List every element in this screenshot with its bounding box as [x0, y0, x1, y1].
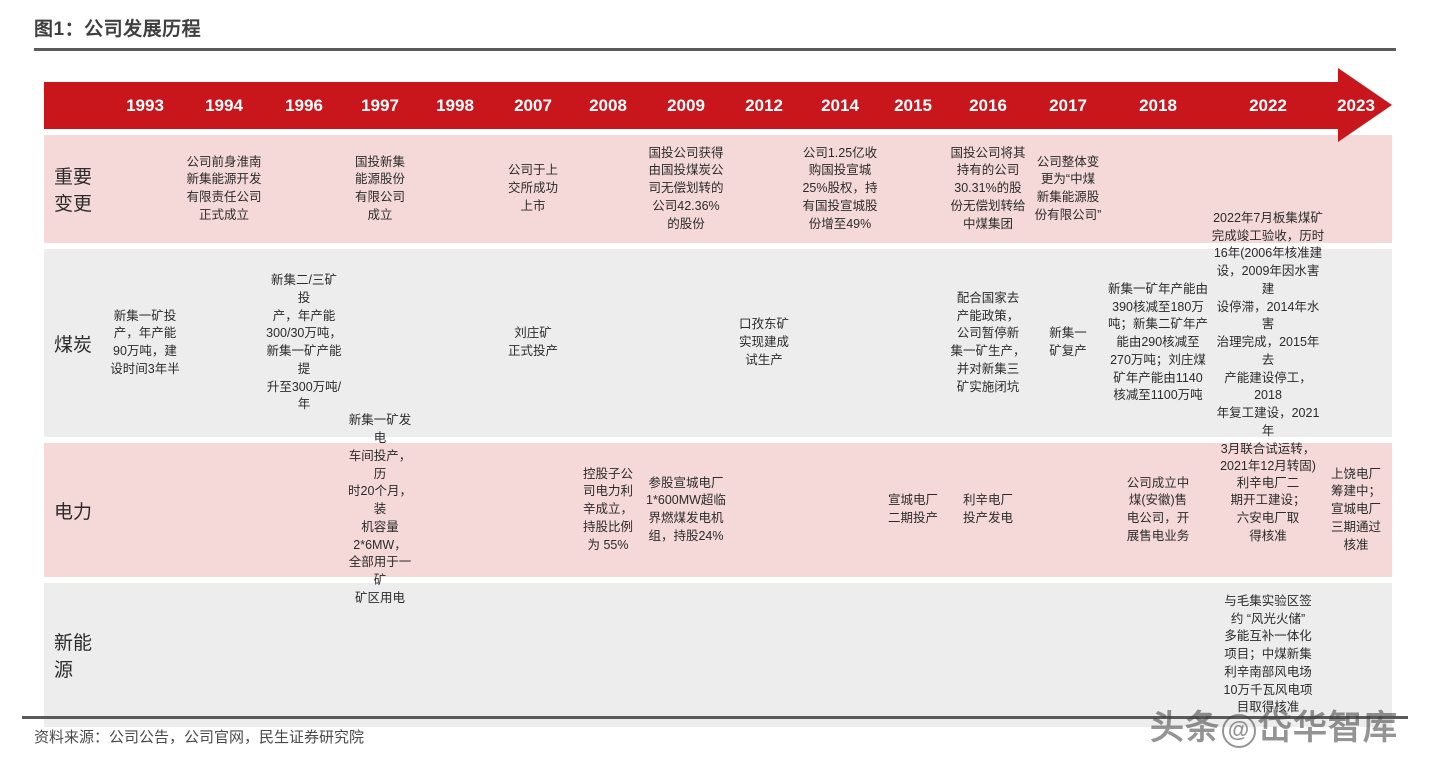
- row-label-important-changes: 重要变更: [44, 135, 106, 243]
- cell-煤炭-1994: [184, 249, 264, 437]
- year-label-1998: 1998: [416, 96, 494, 116]
- cell-新能源-2023: [1326, 583, 1386, 727]
- year-label-2022: 2022: [1210, 96, 1326, 116]
- cell-电力-2017: [1030, 443, 1106, 577]
- cell-新能源-2007: [494, 583, 572, 727]
- cell-电力-2009: 参股宣城电厂 1*600MW超临 界燃煤发电机 组，持股24%: [644, 443, 728, 577]
- timeline-arrow-header: 1993199419961997199820072008200920122014…: [44, 82, 1392, 129]
- source-note: 资料来源：公司公告，公司官网，民生证券研究院: [34, 726, 364, 747]
- cell-新能源-2008: [572, 583, 644, 727]
- cell-重要变更-2016: 国投公司将其 持有的公司 30.31%的股 份无偿划转给 中煤集团: [946, 135, 1030, 243]
- cell-煤炭-2008: [572, 249, 644, 437]
- year-label-1996: 1996: [264, 96, 344, 116]
- cell-新能源-1994: [184, 583, 264, 727]
- year-label-2007: 2007: [494, 96, 572, 116]
- title-divider: [34, 48, 1396, 51]
- year-label-2017: 2017: [1030, 96, 1106, 116]
- row-label-power: 电力: [44, 443, 106, 577]
- cell-新能源-1998: [416, 583, 494, 727]
- year-label-2023: 2023: [1326, 96, 1386, 116]
- cell-新能源-2014: [800, 583, 880, 727]
- cell-煤炭-2009: [644, 249, 728, 437]
- cell-重要变更-2012: [728, 135, 800, 243]
- row-cells-important-changes: 公司前身淮南 新集能源开发 有限责任公司 正式成立国投新集 能源股份 有限公司 …: [106, 135, 1392, 243]
- cell-电力-2016: 利辛电厂 投产发电: [946, 443, 1030, 577]
- cell-重要变更-2023: [1326, 135, 1386, 243]
- cell-重要变更-1998: [416, 135, 494, 243]
- cell-重要变更-2017: 公司整体变 更为“中煤 新集能源股 份有限公司”: [1030, 135, 1106, 243]
- table-row-coal: 煤炭 新集一矿投 产，年产能 90万吨，建 设时间3年半新集二/三矿投 产，年产…: [44, 249, 1392, 437]
- cell-重要变更-2018: [1106, 135, 1210, 243]
- year-label-2012: 2012: [728, 96, 800, 116]
- cell-新能源-2022: 与毛集实验区签 约 “风光火储” 多能互补一体化 项目；中煤新集 利辛南部风电场…: [1210, 583, 1326, 727]
- cell-电力-1996: [264, 443, 344, 577]
- cell-煤炭-2012: 口孜东矿 实现建成 试生产: [728, 249, 800, 437]
- cell-煤炭-2022: 2022年7月板集煤矿 完成竣工验收，历时 16年(2006年核准建 设，200…: [1210, 249, 1326, 437]
- row-cells-new-energy: 与毛集实验区签 约 “风光火储” 多能互补一体化 项目；中煤新集 利辛南部风电场…: [106, 583, 1392, 727]
- cell-重要变更-1993: [106, 135, 184, 243]
- cell-重要变更-2014: 公司1.25亿收 购国投宣城 25%股权，持 有国投宣城股 份增至49%: [800, 135, 880, 243]
- cell-新能源-2016: [946, 583, 1030, 727]
- cell-煤炭-2017: 新集一 矿复产: [1030, 249, 1106, 437]
- cell-电力-2023: 上饶电厂 筹建中； 宣城电厂 三期通过 核准: [1326, 443, 1386, 577]
- table-row-power: 电力 新集一矿发电 车间投产，历 时20个月，装 机容量2*6MW， 全部用于一…: [44, 443, 1392, 577]
- cell-新能源-2018: [1106, 583, 1210, 727]
- cell-煤炭-1993: 新集一矿投 产，年产能 90万吨，建 设时间3年半: [106, 249, 184, 437]
- cell-新能源-2017: [1030, 583, 1106, 727]
- cell-煤炭-2014: [800, 249, 880, 437]
- year-label-1994: 1994: [184, 96, 264, 116]
- cell-重要变更-1996: [264, 135, 344, 243]
- cell-新能源-1997: [344, 583, 416, 727]
- year-label-2014: 2014: [800, 96, 880, 116]
- cell-煤炭-2023: [1326, 249, 1386, 437]
- page-title: 图1：公司发展历程: [34, 14, 1396, 48]
- year-label-2008: 2008: [572, 96, 644, 116]
- cell-电力-2012: [728, 443, 800, 577]
- cell-电力-1993: [106, 443, 184, 577]
- cell-新能源-1993: [106, 583, 184, 727]
- year-label-1997: 1997: [344, 96, 416, 116]
- cell-电力-1998: [416, 443, 494, 577]
- cell-煤炭-2015: [880, 249, 946, 437]
- year-label-2015: 2015: [880, 96, 946, 116]
- cell-煤炭-2018: 新集一矿年产能由 390核减至180万 吨；新集二矿年产 能由290核减至 27…: [1106, 249, 1210, 437]
- footer-divider: [22, 716, 1408, 719]
- timeline-chart: 1993199419961997199820072008200920122014…: [44, 82, 1392, 710]
- cell-煤炭-1998: [416, 249, 494, 437]
- cell-新能源-2009: [644, 583, 728, 727]
- year-label-2016: 2016: [946, 96, 1030, 116]
- cell-新能源-1996: [264, 583, 344, 727]
- cell-重要变更-1994: 公司前身淮南 新集能源开发 有限责任公司 正式成立: [184, 135, 264, 243]
- cell-电力-2007: [494, 443, 572, 577]
- year-axis: 1993199419961997199820072008200920122014…: [44, 82, 1354, 129]
- cell-煤炭-1997: [344, 249, 416, 437]
- cell-电力-1994: [184, 443, 264, 577]
- row-label-new-energy: 新能源: [44, 583, 106, 727]
- cell-电力-2018: 公司成立中 煤(安徽)售 电公司，开 展售电业务: [1106, 443, 1210, 577]
- table-row-important-changes: 重要变更 公司前身淮南 新集能源开发 有限责任公司 正式成立国投新集 能源股份 …: [44, 135, 1392, 243]
- row-label-coal: 煤炭: [44, 249, 106, 437]
- row-cells-power: 新集一矿发电 车间投产，历 时20个月，装 机容量2*6MW， 全部用于一矿 矿…: [106, 443, 1392, 577]
- year-label-2018: 2018: [1106, 96, 1210, 116]
- cell-电力-2022: 利辛电厂二 期开工建设； 六安电厂取 得核准: [1210, 443, 1326, 577]
- cell-重要变更-2015: [880, 135, 946, 243]
- cell-新能源-2015: [880, 583, 946, 727]
- cell-重要变更-1997: 国投新集 能源股份 有限公司 成立: [344, 135, 416, 243]
- year-label-2009: 2009: [644, 96, 728, 116]
- cell-煤炭-2007: 刘庄矿 正式投产: [494, 249, 572, 437]
- cell-重要变更-2007: 公司于上 交所成功 上市: [494, 135, 572, 243]
- cell-电力-1997: 新集一矿发电 车间投产，历 时20个月，装 机容量2*6MW， 全部用于一矿 矿…: [344, 443, 416, 577]
- cell-电力-2014: [800, 443, 880, 577]
- cell-电力-2008: 控股子公 司电力利 辛成立， 持股比例 为 55%: [572, 443, 644, 577]
- cell-煤炭-2016: 配合国家去 产能政策， 公司暂停新 集一矿生产， 并对新集三 矿实施闭坑: [946, 249, 1030, 437]
- cell-煤炭-1996: 新集二/三矿投 产，年产能 300/30万吨， 新集一矿产能提 升至300万吨/…: [264, 249, 344, 437]
- cell-新能源-2012: [728, 583, 800, 727]
- cell-重要变更-2008: [572, 135, 644, 243]
- year-label-1993: 1993: [106, 96, 184, 116]
- row-cells-coal: 新集一矿投 产，年产能 90万吨，建 设时间3年半新集二/三矿投 产，年产能 3…: [106, 249, 1392, 437]
- cell-电力-2015: 宣城电厂 二期投产: [880, 443, 946, 577]
- cell-重要变更-2009: 国投公司获得 由国投煤炭公 司无偿划转的 公司42.36% 的股份: [644, 135, 728, 243]
- figure-title-block: 图1：公司发展历程: [34, 14, 1396, 51]
- table-row-new-energy: 新能源 与毛集实验区签 约 “风光火储” 多能互补一体化 项目；中煤新集 利辛南…: [44, 583, 1392, 727]
